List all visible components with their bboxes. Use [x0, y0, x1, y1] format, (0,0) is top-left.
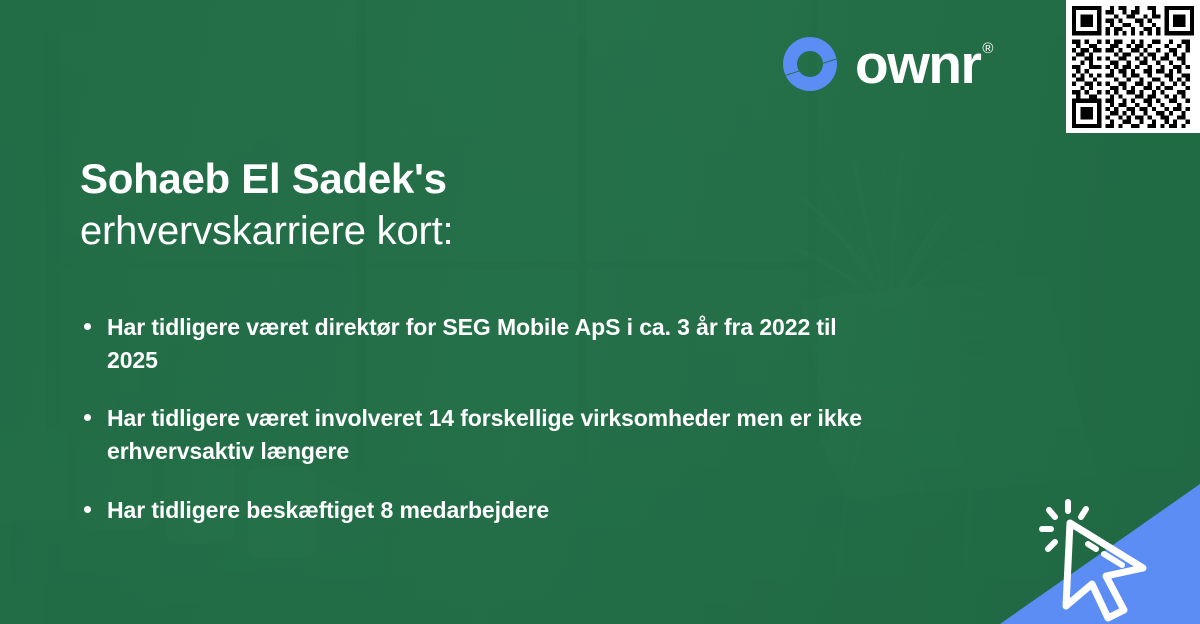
list-item-text: Har tidligere været involveret 14 forske… — [107, 405, 862, 464]
career-summary-list: Har tidligere været direktør for SEG Mob… — [80, 311, 870, 526]
qr-code-panel[interactable] — [1066, 0, 1200, 133]
bullet-dot-icon — [84, 414, 91, 421]
ownr-wordmark: ownr ® — [855, 37, 993, 92]
ownr-logo[interactable]: ownr ® — [779, 33, 993, 95]
list-item: Har tidligere været direktør for SEG Mob… — [80, 311, 870, 376]
ownr-split-circle-icon — [779, 33, 841, 95]
list-item-text: Har tidligere beskæftiget 8 medarbejdere — [107, 497, 549, 523]
registered-trademark-symbol: ® — [982, 41, 993, 56]
list-item-text: Har tidligere været direktør for SEG Mob… — [107, 314, 837, 373]
title-subtitle: erhvervskarriere kort: — [80, 208, 840, 255]
business-card-banner: ownr ® Sohaeb El Sadek's erhvervskarrier… — [0, 0, 1200, 624]
title-person-name: Sohaeb El Sadek's — [80, 155, 840, 204]
list-item: Har tidligere været involveret 14 forske… — [80, 402, 870, 467]
qr-code-icon — [1072, 6, 1194, 128]
bullet-dot-icon — [84, 506, 91, 513]
logo-text: ownr — [855, 37, 980, 92]
bullet-dot-icon — [84, 323, 91, 330]
list-item: Har tidligere beskæftiget 8 medarbejdere — [80, 494, 870, 527]
page-title: Sohaeb El Sadek's erhvervskarriere kort: — [80, 155, 840, 255]
